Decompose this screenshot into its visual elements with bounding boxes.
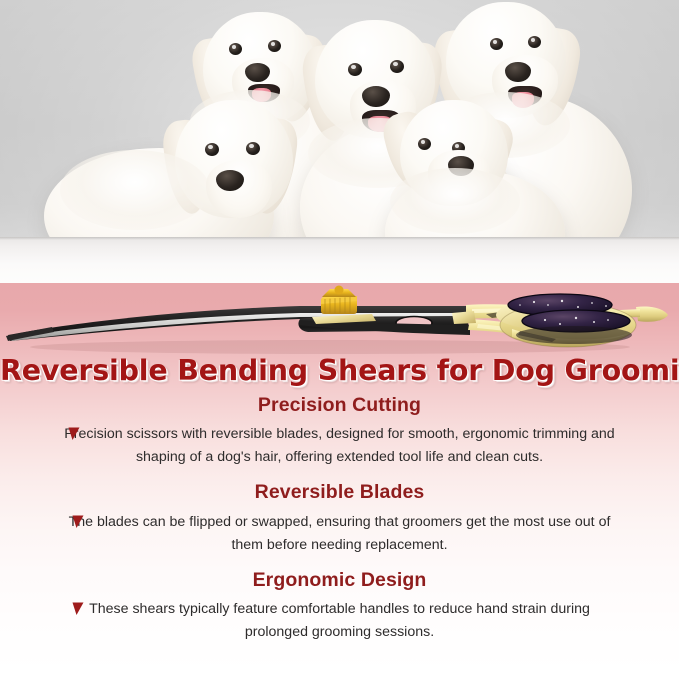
feature-heading: Ergonomic Design — [0, 570, 679, 591]
feature-precision-cutting: Precision Cutting Precision scissors wit… — [0, 395, 679, 469]
photo-surface — [0, 237, 679, 283]
feature-list: Precision Cutting Precision scissors wit… — [0, 395, 679, 650]
feature-heading: Reversible Blades — [0, 482, 679, 503]
feature-body: These shears typically feature comfortab… — [0, 598, 679, 644]
feature-text: These shears typically feature comfortab… — [89, 601, 590, 640]
puppies-photo — [0, 0, 679, 283]
feature-reversible-blades: Reversible Blades The blades can be flip… — [0, 482, 679, 556]
product-infographic: Reversible Bending Shears for Dog Groomi… — [0, 0, 679, 673]
flag-bullet-icon — [72, 515, 84, 529]
page-title: Reversible Bending Shears for Dog Groomi… — [0, 354, 679, 387]
info-banner: Reversible Bending Shears for Dog Groomi… — [0, 283, 679, 673]
grooming-shears-image — [0, 283, 679, 363]
feature-heading: Precision Cutting — [0, 395, 679, 416]
feature-text: Precision scissors with reversible blade… — [64, 426, 614, 465]
feature-text: The blades can be flipped or swapped, en… — [69, 514, 611, 553]
flag-bullet-icon — [68, 427, 80, 441]
feature-body: The blades can be flipped or swapped, en… — [0, 511, 679, 557]
feature-body: Precision scissors with reversible blade… — [0, 423, 679, 469]
flag-bullet-icon — [72, 602, 84, 616]
feature-ergonomic-design: Ergonomic Design These shears typically … — [0, 570, 679, 644]
